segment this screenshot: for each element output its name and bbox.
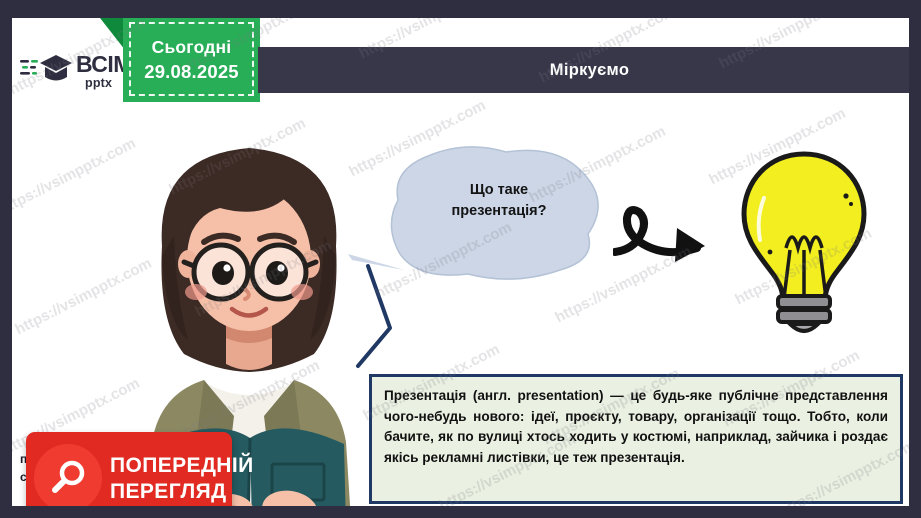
speech-bubble-text: Що таке презентація? xyxy=(410,180,588,222)
speech-bubble: Що таке презентація? xyxy=(388,144,610,284)
preview-badge-circle xyxy=(34,444,102,506)
slide-root: ВСІМ pptx Сьогодні 29.08.2025 Міркуємо xyxy=(0,0,921,518)
preview-badge[interactable]: ПОПЕРЕДНІЙ ПЕРЕГЛЯД xyxy=(26,432,232,506)
brand-logo: ВСІМ pptx xyxy=(20,46,132,96)
magnifier-icon xyxy=(48,458,88,498)
speech-bubble-line-1: Що таке xyxy=(410,180,588,201)
speech-bubble-tail xyxy=(346,252,412,370)
definition-text: Презентація (англ. presentation) — це бу… xyxy=(384,386,888,469)
speech-bubble-line-2: презентація? xyxy=(410,201,588,222)
slide-canvas: ВСІМ pptx Сьогодні 29.08.2025 Міркуємо xyxy=(12,18,909,506)
header-bar: Міркуємо xyxy=(258,47,909,93)
graduation-cap-icon xyxy=(20,51,72,91)
curly-arrow-right-icon xyxy=(613,192,725,274)
date-tag: Сьогодні 29.08.2025 xyxy=(123,18,260,102)
preview-badge-line-2: ПЕРЕГЛЯД xyxy=(110,481,254,502)
preview-badge-line-1: ПОПЕРЕДНІЙ xyxy=(110,455,254,476)
lightbulb-icon xyxy=(734,146,874,338)
page-title: Міркуємо xyxy=(550,61,629,80)
date-tag-label: Сьогодні xyxy=(152,37,232,58)
preview-badge-text: ПОПЕРЕДНІЙ ПЕРЕГЛЯД xyxy=(110,455,254,502)
definition-box: Презентація (англ. presentation) — це бу… xyxy=(369,374,903,504)
date-tag-value: 29.08.2025 xyxy=(144,61,239,83)
